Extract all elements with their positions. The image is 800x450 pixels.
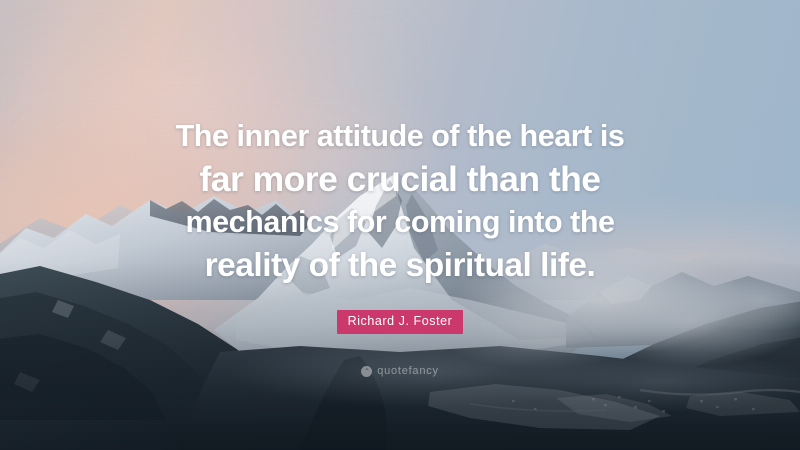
author-attribution: Richard J. Foster bbox=[0, 310, 800, 334]
watermark-brand-label: quotefancy bbox=[377, 366, 439, 377]
quote-mark-icon: “ bbox=[361, 366, 372, 377]
quote-line-4: reality of the spiritual life. bbox=[70, 244, 730, 288]
quotefancy-watermark: “ quotefancy bbox=[0, 366, 800, 377]
quote-line-2: far more crucial than the bbox=[70, 157, 730, 201]
quote-poster: The inner attitude of the heart is far m… bbox=[0, 0, 800, 450]
quote-line-3: mechanics for coming into the bbox=[70, 201, 730, 244]
author-name-badge: Richard J. Foster bbox=[337, 310, 464, 334]
quote-line-1: The inner attitude of the heart is bbox=[70, 116, 730, 157]
quote-mark-glyph: “ bbox=[365, 368, 368, 375]
quote-text-block: The inner attitude of the heart is far m… bbox=[0, 116, 800, 288]
